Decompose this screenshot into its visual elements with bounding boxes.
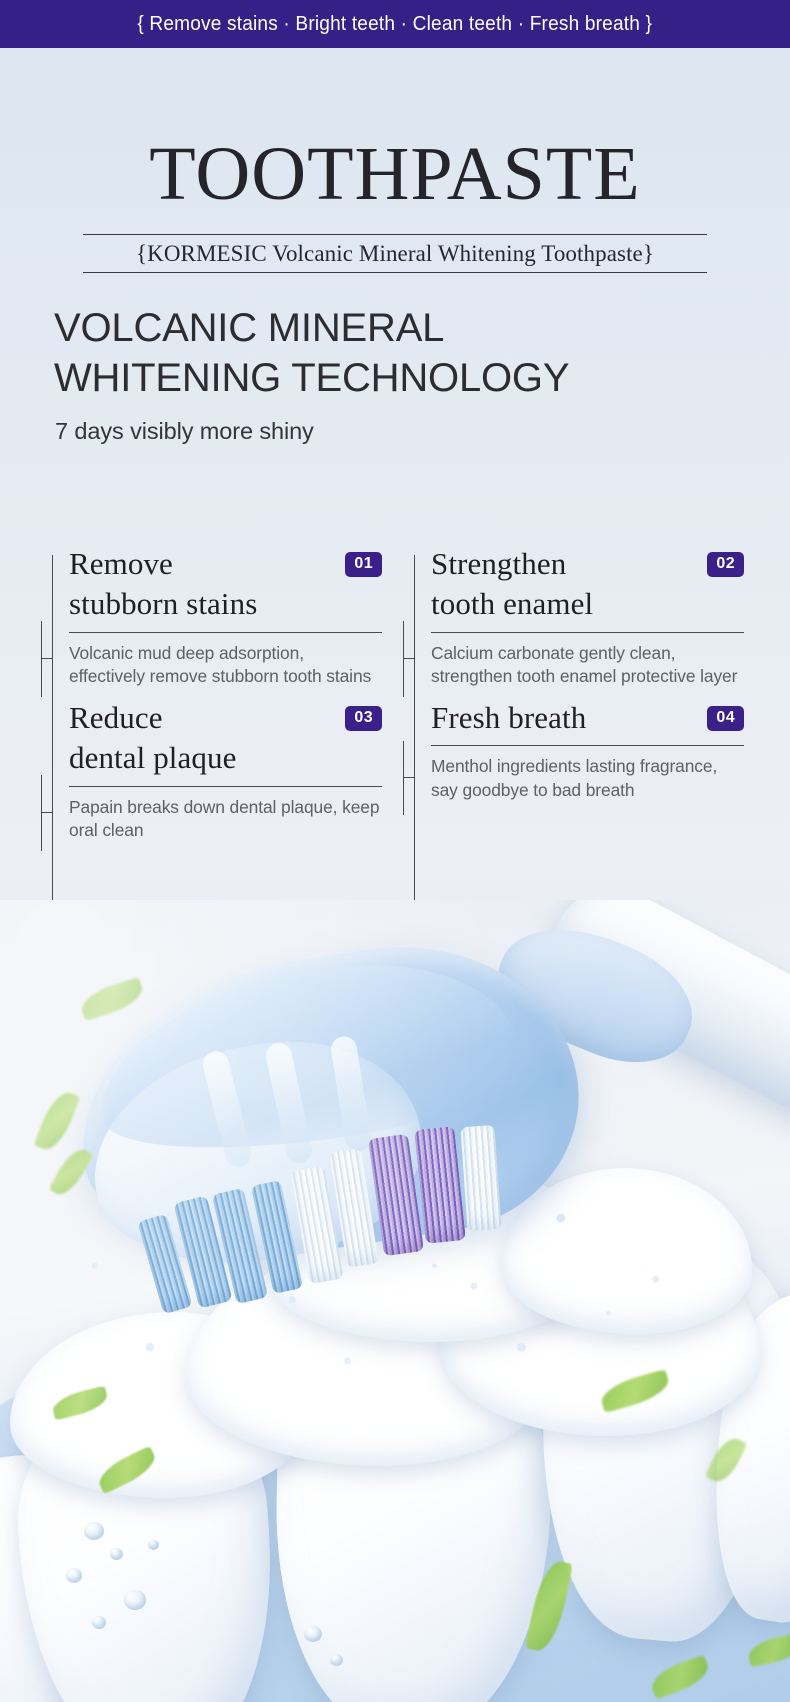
water-droplet (304, 1626, 322, 1642)
product-photo (0, 900, 790, 1702)
card-rule-outer (41, 621, 42, 697)
card-title-line-2: stubborn stains (69, 586, 257, 621)
page-title: TOOTHPASTE (0, 136, 790, 212)
headline-line-1: VOLCANIC MINERAL (54, 306, 444, 350)
card-rule-tick (403, 777, 415, 778)
feature-card-04: Fresh breath 04 Menthol ingredients last… (414, 697, 744, 843)
card-header: Fresh breath 04 (431, 697, 744, 738)
card-rule-tick (403, 658, 415, 659)
water-droplet (124, 1590, 146, 1610)
card-rule-inner (52, 709, 53, 931)
feature-card-03: Reduce dental plaque 03 Papain breaks do… (52, 697, 382, 843)
card-divider (431, 632, 744, 633)
card-title-line-1: Reduce (69, 700, 163, 735)
card-rule-tick (41, 812, 53, 813)
leaf-fragment (33, 1087, 80, 1154)
bristle-tuft-white (460, 1125, 501, 1231)
card-title: Strengthen tooth enamel (431, 543, 593, 625)
card-title-line-1: Fresh breath (431, 700, 586, 735)
water-droplet (92, 1616, 106, 1629)
card-header: Strengthen tooth enamel 02 (431, 543, 744, 625)
card-body-text: Volcanic mud deep adsorption, effectivel… (69, 642, 382, 689)
card-divider (69, 632, 382, 633)
tagline: 7 days visibly more shiny (55, 418, 790, 445)
feature-card-02: Strengthen tooth enamel 02 Calcium carbo… (414, 543, 744, 689)
card-title: Fresh breath (431, 697, 586, 738)
card-number-badge: 02 (707, 552, 744, 577)
water-droplet (84, 1522, 104, 1540)
leaf-fragment (78, 977, 147, 1022)
banner-text: { Remove stains · Bright teeth · Clean t… (138, 12, 653, 36)
card-title-line-1: Remove (69, 546, 173, 581)
subtitle-rule-bottom (83, 272, 707, 273)
card-rule-tick (41, 658, 53, 659)
product-detail-page: { Remove stains · Bright teeth · Clean t… (0, 0, 790, 1702)
card-rule-outer (403, 621, 404, 697)
card-number-badge: 01 (345, 552, 382, 577)
card-number-badge: 04 (707, 706, 744, 731)
water-droplet (110, 1548, 123, 1560)
feature-card-01: Remove stubborn stains 01 Volcanic mud d… (52, 543, 382, 689)
card-header: Reduce dental plaque 03 (69, 697, 382, 779)
card-rule-outer (403, 741, 404, 815)
card-title-line-2: tooth enamel (431, 586, 593, 621)
water-droplet (66, 1568, 82, 1583)
card-title: Remove stubborn stains (69, 543, 257, 625)
water-droplet (148, 1540, 159, 1550)
headline-line-2: WHITENING TECHNOLOGY (54, 353, 790, 403)
top-benefits-banner: { Remove stains · Bright teeth · Clean t… (0, 0, 790, 48)
feature-grid: Remove stubborn stains 01 Volcanic mud d… (0, 543, 790, 843)
header-section: TOOTHPASTE {KORMESIC Volcanic Mineral Wh… (0, 48, 790, 445)
subtitle-block: {KORMESIC Volcanic Mineral Whitening Too… (83, 234, 707, 273)
card-title: Reduce dental plaque (69, 697, 236, 779)
card-body-text: Calcium carbonate gently clean, strength… (431, 642, 744, 689)
card-number-badge: 03 (345, 706, 382, 731)
water-droplet (330, 1654, 343, 1666)
headline: VOLCANIC MINERAL WHITENING TECHNOLOGY (54, 303, 790, 404)
card-title-line-2: dental plaque (69, 740, 236, 775)
card-body-text: Menthol ingredients lasting fragrance, s… (431, 755, 744, 802)
card-body-text: Papain breaks down dental plaque, keep o… (69, 796, 382, 843)
card-rule-inner (414, 709, 415, 915)
card-title-line-1: Strengthen (431, 546, 566, 581)
card-divider (431, 745, 744, 746)
card-header: Remove stubborn stains 01 (69, 543, 382, 625)
card-rule-outer (41, 775, 42, 851)
product-subtitle: {KORMESIC Volcanic Mineral Whitening Too… (83, 235, 707, 272)
card-divider (69, 786, 382, 787)
